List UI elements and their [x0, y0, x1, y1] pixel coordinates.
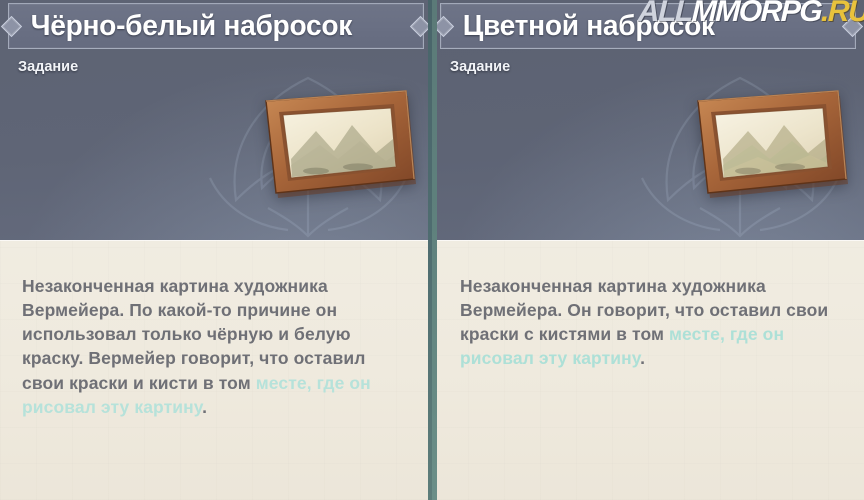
item-panel-black-and-white-sketch: Чёрно-белый набросок Задание	[0, 0, 432, 500]
description-tail: .	[640, 348, 645, 368]
framed-painting-sketch-icon[interactable]	[246, 83, 426, 203]
item-panel-colored-sketch: Цветной набросок Задание	[432, 0, 864, 500]
item-description-card: Незаконченная картина художника Вермейер…	[0, 240, 432, 500]
diamond-ornament-left-icon	[433, 15, 454, 36]
framed-painting-colored-icon[interactable]	[678, 83, 858, 203]
panel-title-bar: Цветной набросок	[440, 3, 856, 49]
item-artwork-area	[0, 75, 432, 240]
panel-category-label: Задание	[18, 59, 432, 75]
diamond-ornament-right-icon	[410, 15, 431, 36]
panel-title: Цветной набросок	[455, 12, 829, 41]
diamond-ornament-left-icon	[1, 15, 22, 36]
dual-item-tooltip-screen: Чёрно-белый набросок Задание	[0, 0, 864, 500]
panel-title-bar: Чёрно-белый набросок	[8, 3, 424, 49]
panel-title: Чёрно-белый набросок	[23, 12, 397, 41]
description-tail: .	[202, 397, 207, 417]
item-description-text: Незаконченная картина художника Вермейер…	[460, 274, 842, 371]
diamond-ornament-right-icon	[842, 15, 863, 36]
item-description-text: Незаконченная картина художника Вермейер…	[22, 274, 410, 419]
item-artwork-area	[432, 75, 864, 240]
item-description-card: Незаконченная картина художника Вермейер…	[432, 240, 864, 500]
panel-category-label: Задание	[450, 59, 864, 75]
